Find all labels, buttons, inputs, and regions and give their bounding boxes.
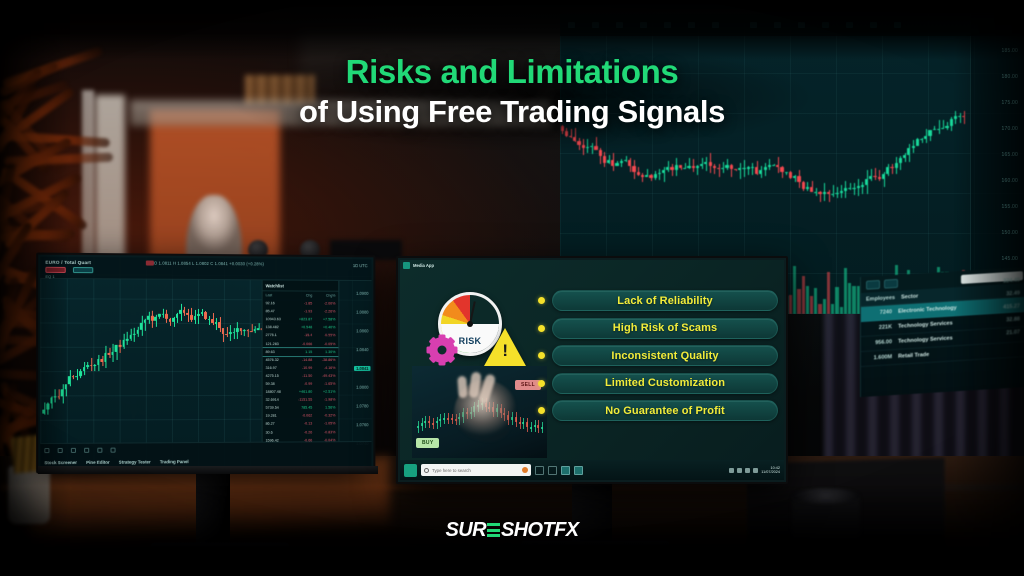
watchlist-cell-chg: -0.062 bbox=[289, 414, 312, 418]
candle-body bbox=[603, 156, 606, 163]
watchlist-row[interactable]: 10943.63+823.87+7.58% bbox=[263, 315, 339, 323]
watchlist-cell-pct: -49.43% bbox=[312, 374, 335, 378]
watchlist-row[interactable]: 85.47-1.93-2.26% bbox=[263, 307, 339, 315]
system-tray[interactable]: 10:42 11/07/2024 bbox=[729, 466, 780, 475]
candle-body bbox=[628, 160, 631, 166]
bullet-label: Limited Customization bbox=[605, 377, 725, 389]
candle-body bbox=[882, 174, 885, 179]
watchlist-cell-last: 316.97 bbox=[266, 366, 289, 370]
watchlist-cell-last: 2775.1 bbox=[266, 334, 289, 338]
brand-part-1: SUR bbox=[446, 519, 486, 542]
candle-body bbox=[186, 313, 189, 315]
watchlist-cell-last: 92.16 bbox=[266, 301, 289, 305]
candle-body bbox=[133, 334, 136, 335]
candle-body bbox=[755, 167, 758, 174]
watchlist-cell-chg: -11.50 bbox=[289, 374, 312, 378]
watchlist-cell-pct: -2.26% bbox=[312, 310, 335, 314]
candle-body bbox=[857, 186, 860, 187]
gear-tooth bbox=[446, 354, 456, 364]
volume-bar bbox=[818, 304, 821, 314]
finger-3 bbox=[457, 376, 468, 399]
bullet-pill: Inconsistent Quality bbox=[552, 345, 778, 366]
watchlist-cell-pct: -0.55% bbox=[312, 334, 335, 338]
candle-wick bbox=[127, 332, 128, 345]
candle-body bbox=[86, 365, 89, 367]
watchlist-cell-chg: -0.99 bbox=[289, 382, 312, 386]
candle-wick bbox=[875, 168, 876, 180]
candle-wick bbox=[892, 164, 893, 175]
taskbar-clock[interactable]: 10:42 11/07/2024 bbox=[761, 466, 780, 475]
watchlist-cell-pct: -1.65% bbox=[312, 382, 335, 386]
watchlist-cell-last: 138.482 bbox=[266, 325, 289, 329]
price-tick: 1.0880 bbox=[356, 310, 368, 315]
volume-bar bbox=[852, 286, 855, 314]
search-icon bbox=[424, 468, 429, 473]
employee-count: 1.600M bbox=[866, 354, 892, 362]
app-icon bbox=[403, 262, 410, 269]
candle-wick bbox=[740, 163, 741, 178]
app-window-titlebar[interactable]: Media App bbox=[403, 262, 434, 269]
candle-body bbox=[759, 170, 762, 174]
candle-body bbox=[700, 164, 703, 166]
candle-body bbox=[119, 345, 122, 347]
candle-body bbox=[920, 139, 923, 140]
watchlist-cell-chg: -10.99 bbox=[289, 366, 312, 370]
watchlist-cell-chg: 785.45 bbox=[289, 406, 312, 410]
candle-body bbox=[840, 191, 843, 193]
candle-body bbox=[679, 165, 682, 168]
left-chart-toolbar[interactable]: EURO / Total Quart O 1.0811 H 1.0854 L 1… bbox=[40, 257, 371, 281]
mini-candle-body bbox=[541, 427, 543, 429]
bullet-label: No Guarantee of Profit bbox=[605, 405, 725, 417]
volume-bar bbox=[810, 296, 813, 314]
candle-body bbox=[190, 315, 193, 320]
candle-body bbox=[916, 139, 919, 146]
candle-body bbox=[136, 330, 139, 334]
current-price-tick: 1.0841 bbox=[354, 366, 370, 371]
candle-body bbox=[725, 165, 728, 168]
candle-body bbox=[730, 165, 733, 169]
windows-taskbar[interactable]: Type here to search 10:42 11/07/2024 bbox=[400, 460, 784, 480]
candle-body bbox=[721, 168, 724, 169]
left-monitor-screen[interactable]: EURO / Total Quart O 1.0811 H 1.0854 L 1… bbox=[40, 257, 371, 470]
volume-bar bbox=[793, 266, 796, 314]
bullet-row: Lack of Reliability bbox=[538, 290, 778, 311]
candle-wick bbox=[134, 328, 135, 342]
bullet-dot-icon bbox=[538, 352, 545, 359]
candle-body bbox=[793, 176, 796, 178]
volume-bar bbox=[814, 288, 817, 314]
candle-body bbox=[895, 163, 898, 168]
watchlist-cell-chg: -0.13 bbox=[289, 422, 312, 426]
bullet-dot-icon bbox=[538, 297, 545, 304]
candle-body bbox=[797, 176, 800, 182]
watchlist-cell-chg: -1151.55 bbox=[289, 398, 312, 402]
candle-body bbox=[687, 166, 690, 168]
volume-bar bbox=[827, 272, 830, 314]
bullet-label: Inconsistent Quality bbox=[611, 350, 718, 362]
watchlist-cell-last: 30.6 bbox=[266, 430, 289, 434]
column-employees: Employees bbox=[866, 294, 895, 302]
candle-body bbox=[108, 353, 111, 354]
watchlist-row[interactable]: 18807.48+461.80+2.51% bbox=[263, 388, 339, 396]
candle-body bbox=[709, 162, 712, 166]
candle-body bbox=[903, 155, 906, 158]
left-monitor: EURO / Total Quart O 1.0811 H 1.0854 L 1… bbox=[36, 253, 375, 474]
watchlist-cell-last: 4576.32 bbox=[266, 358, 289, 362]
wl-col-pct: Chg% bbox=[312, 294, 335, 298]
watchlist-cell-last: 18807.48 bbox=[266, 390, 289, 394]
watchlist-row[interactable]: 2775.1-15.4-0.55% bbox=[263, 332, 339, 340]
candle-body bbox=[232, 332, 235, 333]
watchlist-cell-pct: -1.05% bbox=[312, 422, 335, 426]
tool-icon-3 bbox=[71, 448, 76, 453]
risk-graphic: RISK ! bbox=[428, 292, 524, 376]
watchlist-cell-chg: 1.15 bbox=[289, 350, 312, 354]
watchlist-rows: 92.16-1.85-2.00%85.47-1.93-2.26%10943.63… bbox=[263, 299, 339, 441]
bullet-pill: Lack of Reliability bbox=[552, 290, 778, 311]
watchlist-cell-chg: +461.80 bbox=[289, 390, 312, 394]
gauge-hub bbox=[467, 321, 473, 327]
watchlist-cell-pct: -1.98% bbox=[312, 398, 335, 402]
candle-body bbox=[211, 319, 214, 323]
left-price-axis: 1.09001.08801.08601.08401.08201.08001.07… bbox=[338, 281, 371, 441]
sector-name: Technology Services bbox=[898, 335, 953, 344]
volume-bar bbox=[844, 268, 847, 314]
left-monitor-bezel bbox=[38, 466, 378, 474]
candle-body bbox=[742, 168, 745, 169]
candle-body bbox=[204, 312, 207, 319]
tool-icon-6 bbox=[111, 448, 116, 453]
candle-body bbox=[789, 172, 792, 178]
mini-candle-body bbox=[451, 418, 453, 420]
wl-col-chg: Chg bbox=[289, 293, 312, 297]
candle-body bbox=[670, 167, 673, 169]
watchlist-cell-chg: -15.4 bbox=[289, 334, 312, 338]
right-vignette bbox=[954, 0, 1024, 576]
column-sector: Sector bbox=[901, 293, 918, 300]
bullet-label: High Risk of Scams bbox=[613, 322, 718, 334]
candle-body bbox=[257, 328, 260, 329]
volume-bar bbox=[848, 283, 851, 314]
watchlist-cell-pct: +0.40% bbox=[312, 326, 335, 330]
cortana-icon[interactable] bbox=[522, 467, 528, 473]
mini-candle-body bbox=[432, 423, 434, 425]
candle-wick bbox=[216, 318, 217, 330]
watchlist-row[interactable]: 121.283-0.066-0.05% bbox=[263, 340, 339, 348]
candle-body bbox=[247, 330, 250, 331]
mini-candle-body bbox=[428, 421, 430, 423]
candle-body bbox=[151, 316, 154, 321]
candle-wick bbox=[854, 183, 855, 194]
candle-body bbox=[814, 192, 817, 193]
volume-bar bbox=[806, 286, 809, 314]
candle-body bbox=[97, 359, 100, 365]
candle-wick bbox=[77, 369, 78, 380]
search-placeholder: Type here to search bbox=[432, 468, 471, 473]
candle-body bbox=[172, 317, 175, 321]
candle-body bbox=[169, 319, 172, 321]
candle-wick bbox=[858, 179, 859, 196]
employee-count: 7240 bbox=[866, 309, 892, 317]
candle-body bbox=[666, 167, 669, 169]
title-line-2: of Using Free Trading Signals bbox=[0, 92, 1024, 132]
watchlist-cell-last: 59.38 bbox=[266, 382, 289, 386]
candle-wick bbox=[198, 309, 199, 323]
start-button-icon[interactable] bbox=[404, 464, 417, 477]
price-tick: 1.0860 bbox=[356, 328, 368, 333]
candle-body bbox=[179, 310, 182, 314]
watchlist-cell-pct: -0.05% bbox=[312, 342, 335, 346]
ohlc-info-line: O 1.0811 H 1.0854 L 1.0802 C 1.0841 +0.0… bbox=[154, 261, 264, 267]
bullet-label: Lack of Reliability bbox=[617, 295, 712, 307]
candle-body bbox=[218, 323, 221, 329]
price-tick: 1.0780 bbox=[356, 403, 368, 408]
candle-body bbox=[79, 371, 82, 376]
gear-icon bbox=[428, 336, 456, 364]
candle-wick bbox=[862, 182, 863, 194]
candle-body bbox=[637, 172, 640, 175]
volume-bar bbox=[802, 276, 805, 314]
watchlist-cell-last: 121.283 bbox=[266, 342, 289, 346]
mini-candle-body bbox=[515, 417, 517, 422]
bullet-row: High Risk of Scams bbox=[538, 318, 778, 339]
mini-candle-body bbox=[534, 425, 536, 427]
candle-body bbox=[831, 194, 834, 195]
candle-body bbox=[129, 334, 132, 339]
watchlist-cell-last: 5739.54 bbox=[266, 406, 289, 410]
candle-body bbox=[675, 165, 678, 169]
watchlist-cell-chg: -0.066 bbox=[289, 342, 312, 346]
watchlist-cell-last: 10943.63 bbox=[266, 317, 289, 321]
candle-wick bbox=[227, 328, 228, 338]
bullet-dot-icon bbox=[538, 407, 545, 414]
price-tick: 1.0760 bbox=[356, 422, 368, 427]
candle-body bbox=[165, 314, 168, 319]
employee-count: 956.00 bbox=[866, 339, 892, 347]
volume-bar bbox=[789, 295, 792, 314]
watchlist-row[interactable]: 32.6914-1151.55-1.98% bbox=[263, 396, 339, 404]
candle-body bbox=[208, 318, 211, 319]
candle-body bbox=[823, 192, 826, 194]
ohlc-marker-icon bbox=[146, 261, 154, 266]
bullet-pill: No Guarantee of Profit bbox=[552, 400, 778, 421]
bullet-dot-icon bbox=[538, 380, 545, 387]
watchlist-cell-pct: 1.56% bbox=[312, 406, 335, 410]
candle-wick bbox=[188, 309, 189, 321]
watchlist-row[interactable]: 89.631.151.30% bbox=[263, 348, 339, 356]
candle-wick bbox=[209, 316, 210, 325]
left-candlestick-chart[interactable] bbox=[42, 281, 259, 441]
wl-col-last: Last bbox=[266, 293, 289, 297]
watchlist-cell-pct: +2.51% bbox=[312, 390, 335, 394]
mini-candle-body bbox=[526, 422, 528, 426]
candle-wick bbox=[769, 159, 770, 171]
candle-body bbox=[104, 353, 107, 361]
candle-body bbox=[649, 175, 652, 178]
volume-bar bbox=[797, 289, 800, 314]
bullet-row: Inconsistent Quality bbox=[538, 345, 778, 366]
sector-name: Electronic Technology bbox=[898, 305, 957, 315]
candle-body bbox=[865, 179, 868, 186]
candle-body bbox=[776, 165, 779, 167]
watchlist-row[interactable]: 59.38-0.99-1.65% bbox=[263, 380, 339, 388]
candle-body bbox=[827, 192, 830, 195]
candle-body bbox=[194, 316, 197, 320]
employee-count: 221K bbox=[866, 324, 892, 332]
gear-tooth bbox=[439, 359, 446, 366]
tool-icon-5 bbox=[97, 448, 102, 453]
watchlist-cell-chg: -1.93 bbox=[289, 309, 312, 313]
watchlist-cell-last: 86.27 bbox=[266, 422, 289, 426]
candle-body bbox=[250, 331, 253, 332]
candle-body bbox=[810, 187, 813, 191]
chart-tab[interactable]: Trading Panel bbox=[160, 459, 189, 464]
candle-body bbox=[704, 162, 707, 164]
mini-candle-body bbox=[447, 418, 449, 420]
watchlist-row[interactable]: 5739.54785.451.56% bbox=[263, 404, 339, 412]
candle-body bbox=[176, 314, 179, 317]
price-tick: 1.0800 bbox=[356, 385, 368, 390]
watchlist-cell-chg: +0.548 bbox=[289, 326, 312, 330]
watchlist-cell-pct: -38.86% bbox=[312, 358, 335, 362]
mini-candle-body bbox=[417, 426, 419, 428]
bullet-row: No Guarantee of Profit bbox=[538, 400, 778, 421]
watchlist-cell-pct: -0.32% bbox=[312, 414, 335, 418]
brand-letter-e-icon bbox=[487, 522, 500, 538]
center-monitor-screen[interactable]: Media App RISK ! bbox=[400, 260, 784, 480]
gear-tooth bbox=[439, 335, 446, 342]
candle-body bbox=[147, 316, 150, 320]
candle-wick bbox=[706, 157, 707, 170]
watchlist-cell-last: 32.6914 bbox=[266, 398, 289, 402]
candle-body bbox=[654, 174, 657, 178]
taskbar-search-input[interactable]: Type here to search bbox=[421, 464, 531, 476]
candle-body bbox=[126, 339, 129, 340]
candle-body bbox=[802, 182, 805, 189]
price-tick: 1.0900 bbox=[356, 291, 368, 296]
watchlist-cell-last: 89.63 bbox=[266, 350, 289, 354]
candle-body bbox=[912, 146, 915, 148]
candle-body bbox=[93, 365, 96, 366]
watchlist-row[interactable]: 4275.15-11.50-49.43% bbox=[263, 372, 339, 380]
gear-hole bbox=[438, 346, 447, 355]
candle-wick bbox=[672, 164, 673, 176]
bullet-pill: Limited Customization bbox=[552, 373, 778, 394]
bullet-dot-icon bbox=[538, 325, 545, 332]
candle-wick bbox=[833, 185, 834, 197]
candle-body bbox=[632, 166, 635, 172]
watchlist-cell-last: 19.281 bbox=[266, 414, 289, 418]
candle-wick bbox=[659, 169, 660, 180]
tray-icon-1 bbox=[729, 468, 734, 473]
candle-body bbox=[869, 176, 872, 179]
price-tick: 1.0840 bbox=[356, 347, 368, 352]
mini-candle-body bbox=[443, 418, 445, 420]
watchlist-header: Watchlist bbox=[263, 280, 339, 291]
candle-body bbox=[818, 192, 821, 194]
watchlist-panel[interactable]: Watchlist Last Chg Chg% 92.16-1.85-2.00%… bbox=[262, 280, 339, 441]
candle-body bbox=[924, 136, 927, 139]
candle-body bbox=[115, 345, 118, 352]
chart-tab[interactable]: Strategy Tester bbox=[119, 459, 151, 464]
watchlist-cell-last: 85.47 bbox=[266, 309, 289, 313]
app-pinned-icon[interactable] bbox=[574, 466, 583, 475]
taskview-icon[interactable] bbox=[535, 466, 544, 475]
candle-body bbox=[844, 188, 847, 191]
tool-icon-4 bbox=[84, 448, 89, 453]
candle-body bbox=[886, 167, 889, 174]
clock-date: 11/07/2024 bbox=[761, 470, 780, 475]
chart-timeframe-label[interactable]: 1D UTC bbox=[353, 263, 368, 268]
candle-body bbox=[122, 340, 125, 347]
bullet-pill: High Risk of Scams bbox=[552, 318, 778, 339]
center-content: RISK ! SELL bbox=[400, 274, 784, 458]
candle-body bbox=[848, 188, 851, 189]
explorer-icon[interactable] bbox=[561, 466, 570, 475]
watchlist-cell-chg: -14.88 bbox=[289, 358, 312, 362]
chart-tab[interactable]: Pine Editor bbox=[86, 460, 110, 465]
candle-wick bbox=[719, 164, 720, 177]
candle-body bbox=[620, 161, 623, 163]
candle-body bbox=[236, 328, 239, 332]
candle-body bbox=[641, 175, 644, 177]
volume-bar bbox=[840, 307, 843, 314]
candle-body bbox=[899, 158, 902, 163]
watchlist-cell-pct: +7.58% bbox=[312, 318, 335, 322]
candle-body bbox=[229, 332, 232, 334]
candle-body bbox=[683, 168, 686, 169]
buy-label: BUY bbox=[416, 438, 439, 448]
risk-bullet-list: Lack of ReliabilityHigh Risk of ScamsInc… bbox=[538, 290, 778, 421]
poster-canvas: 185.00180.00175.00170.00165.00160.00155.… bbox=[0, 0, 1024, 576]
title-line-1: Risks and Limitations bbox=[0, 52, 1024, 92]
watchlist-cell-last: 4275.15 bbox=[266, 374, 289, 378]
candle-body bbox=[738, 168, 741, 170]
watchlist-cell-chg: -1.85 bbox=[289, 301, 312, 305]
watchlist-cell-pct: -0.83% bbox=[312, 430, 335, 434]
left-vignette bbox=[0, 0, 70, 576]
watchlist-row[interactable]: 4576.32-14.88-38.86% bbox=[263, 356, 339, 364]
gear-tooth bbox=[451, 347, 458, 354]
tray-icon-2 bbox=[737, 468, 742, 473]
sector-name: Retail Trade bbox=[898, 352, 929, 360]
watchlist-cell-chg: +823.87 bbox=[289, 318, 312, 322]
candle-body bbox=[215, 322, 218, 323]
candle-body bbox=[764, 167, 767, 170]
watchlist-row[interactable]: 138.482+0.548+0.40% bbox=[263, 323, 339, 331]
buy-price-badge[interactable] bbox=[73, 267, 93, 273]
candle-body bbox=[197, 314, 200, 316]
edge-icon[interactable] bbox=[548, 466, 557, 475]
candle-body bbox=[780, 167, 783, 172]
candle-body bbox=[861, 185, 864, 186]
candle-body bbox=[225, 334, 228, 335]
warning-exclamation: ! bbox=[502, 342, 508, 359]
brand-part-2: SHOTFX bbox=[501, 519, 579, 542]
candle-body bbox=[806, 187, 809, 189]
panel-icon-1[interactable] bbox=[866, 279, 880, 289]
candle-body bbox=[607, 160, 610, 163]
candle-wick bbox=[807, 182, 808, 192]
candle-body bbox=[768, 165, 771, 167]
app-window-title: Media App bbox=[413, 263, 434, 268]
watchlist-cell-chg: -0.26 bbox=[289, 430, 312, 434]
gear-tooth bbox=[427, 347, 434, 354]
panel-icon-2[interactable] bbox=[884, 278, 898, 288]
volume-bar bbox=[831, 304, 834, 314]
watchlist-row[interactable]: 316.97-10.99-4.16% bbox=[263, 364, 339, 372]
